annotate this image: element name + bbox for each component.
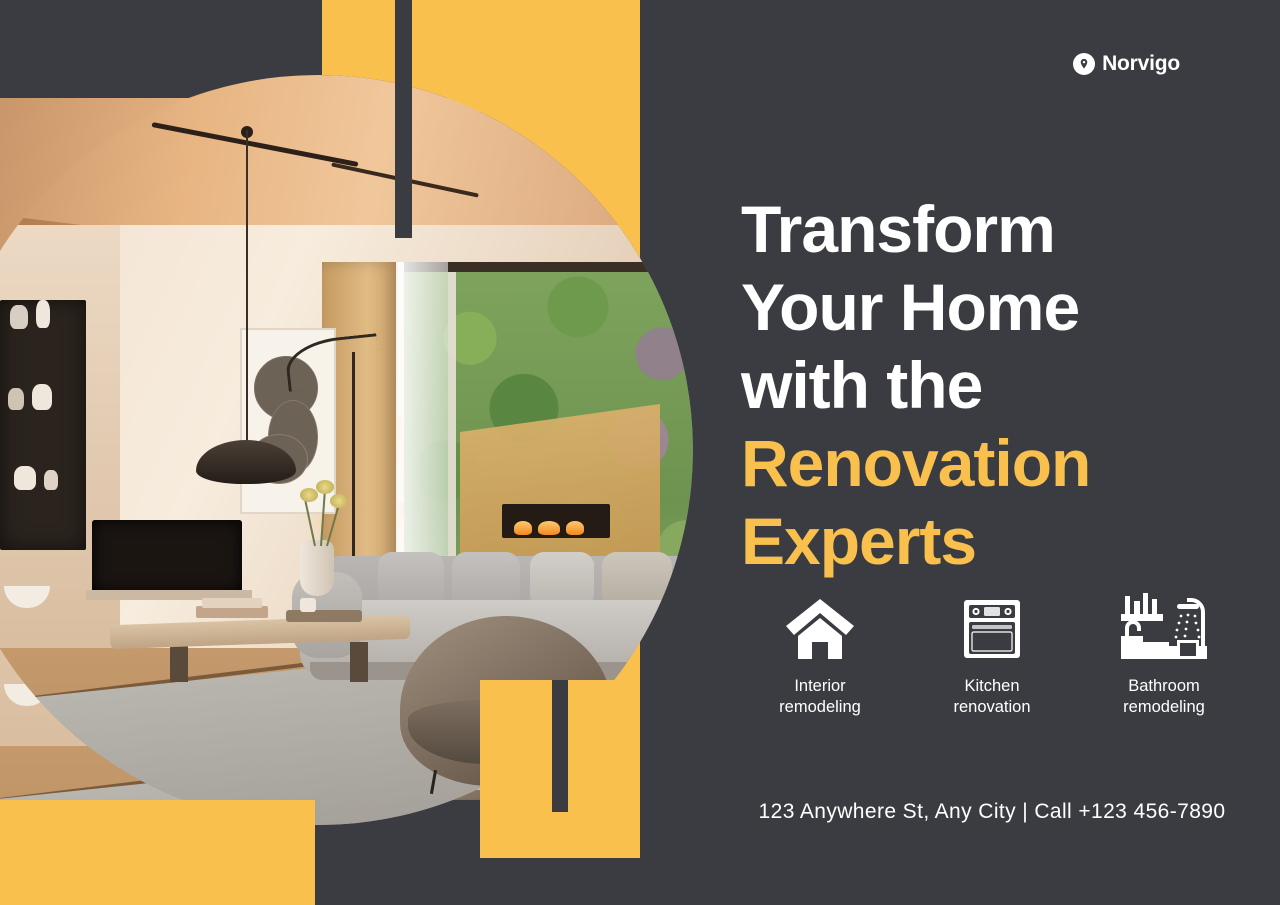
headline-line-3: with the [741,348,982,422]
content-panel: Norvigo Transform Your Home with the Ren… [700,0,1280,905]
service-kitchen-renovation[interactable]: Kitchen renovation [906,584,1078,718]
service-label: Interior remodeling [779,676,861,718]
bathroom-icon [1119,584,1209,662]
headline-line-1: Transform [741,192,1055,266]
dark-accent-bar-bottom [552,680,568,812]
service-label: Kitchen renovation [953,676,1030,718]
service-interior-remodeling[interactable]: Interior remodeling [734,584,906,718]
headline-line-2: Your Home [741,270,1079,344]
yellow-block-bottom-left [0,800,315,905]
renovation-poster: Norvigo Transform Your Home with the Ren… [0,0,1280,905]
house-icon [784,584,856,662]
services-list: Interior remodeling [734,584,1250,718]
oven-icon [962,584,1022,662]
brand-name: Norvigo [1102,52,1180,76]
brand-logo[interactable]: Norvigo [1073,52,1180,76]
headline-line-4: Renovation [741,426,1090,500]
headline-line-5: Experts [741,504,976,578]
service-label: Bathroom remodeling [1123,676,1205,718]
service-bathroom-remodeling[interactable]: Bathroom remodeling [1078,584,1250,718]
location-pin-icon [1073,53,1095,75]
page-title: Transform Your Home with the Renovation … [741,190,1261,580]
contact-info[interactable]: 123 Anywhere St, Any City | Call +123 45… [734,800,1250,824]
dark-accent-bar-top [395,0,412,238]
